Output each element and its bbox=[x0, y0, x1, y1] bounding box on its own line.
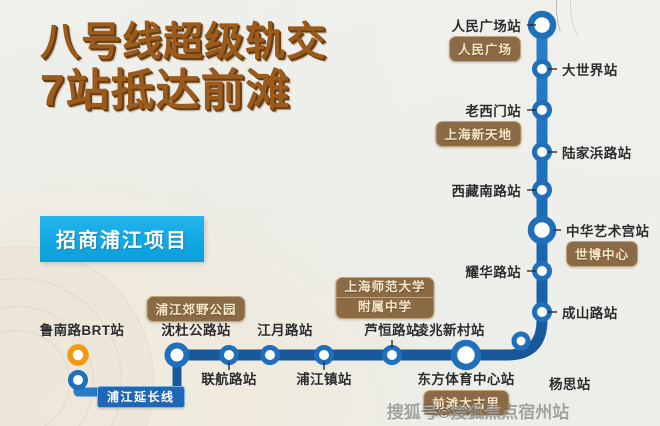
station-label-yaohualu: 耀华路站 bbox=[465, 261, 521, 281]
station-dot-浦江镇站 bbox=[317, 348, 332, 363]
badge-shibozhongxin: 世博中心 bbox=[566, 241, 638, 267]
station-dot-浦江延长线端点 bbox=[71, 373, 86, 388]
badge-shanghaixintiandi: 上海新天地 bbox=[435, 121, 521, 147]
station-label-luhenglu: 芦恒路站 bbox=[364, 319, 420, 339]
station-dot-鲁南路BRT站 bbox=[70, 347, 86, 363]
metro-line-map bbox=[0, 0, 660, 426]
station-label-xizangnanlu: 西藏南路站 bbox=[452, 180, 522, 200]
watermark-text: 搜狐号©搜狐焦点宿州站 bbox=[387, 398, 570, 423]
station-dot-东方体育中心站 bbox=[454, 343, 478, 367]
station-label-lingzhaoxincun: 凌兆新村站 bbox=[415, 319, 485, 339]
station-dot-成山路站 bbox=[535, 305, 550, 320]
station-label-zhonghuayishugong: 中华艺术宫站 bbox=[566, 220, 649, 240]
badge-shnu-affiliated-middle-school: 上海师范大学 附属中学 bbox=[335, 277, 434, 319]
station-label-dashijie: 大世界站 bbox=[562, 59, 618, 79]
badge-renminguangchang: 人民广场 bbox=[449, 36, 521, 62]
badge-shnu-line1: 上海师范大学 bbox=[344, 280, 425, 294]
station-label-renminguangchang: 人民广场站 bbox=[452, 15, 522, 35]
station-label-chengshanlu: 成山路站 bbox=[562, 302, 618, 322]
station-dot-西藏南路站 bbox=[535, 183, 550, 198]
station-label-pujiangzhen: 浦江镇站 bbox=[296, 368, 352, 388]
station-dot-中华艺术宫站 bbox=[531, 219, 553, 241]
station-dot-大世界站 bbox=[535, 62, 550, 77]
poster-canvas: 八号线超级轨交 7站抵达前滩 招商浦江项目 bbox=[0, 0, 660, 426]
station-dot-江月路站 bbox=[263, 348, 278, 363]
badge-shnu-line2: 附属中学 bbox=[336, 297, 433, 318]
station-dot-沈杜公路站 bbox=[168, 346, 187, 365]
station-dot-杨思站 bbox=[514, 334, 528, 348]
station-dot-耀华路站 bbox=[535, 264, 550, 279]
badge-pujiang-country-park: 浦江郊野公园 bbox=[146, 296, 245, 322]
station-label-shendugonglu: 沈杜公路站 bbox=[161, 319, 231, 339]
station-dot-联航路站 bbox=[222, 348, 237, 363]
station-label-lunanlubrt: 鲁南路BRT站 bbox=[40, 319, 125, 339]
station-dot-老西门站 bbox=[535, 103, 550, 118]
station-label-dongfangtiyuzhongxin: 东方体育中心站 bbox=[417, 368, 514, 388]
station-dot-陆家浜路站 bbox=[535, 145, 550, 160]
pujiang-extension-label: 浦江延长线 bbox=[97, 386, 185, 408]
station-label-jiangyuelu: 江月路站 bbox=[257, 319, 313, 339]
station-label-yangsi: 杨思站 bbox=[549, 373, 591, 393]
station-dot-芦恒路站 bbox=[385, 348, 400, 363]
station-label-lianhanglu: 联航路站 bbox=[201, 368, 257, 388]
station-label-laoximen: 老西门站 bbox=[465, 100, 521, 120]
station-label-lujiabanglu: 陆家浜路站 bbox=[562, 142, 632, 162]
